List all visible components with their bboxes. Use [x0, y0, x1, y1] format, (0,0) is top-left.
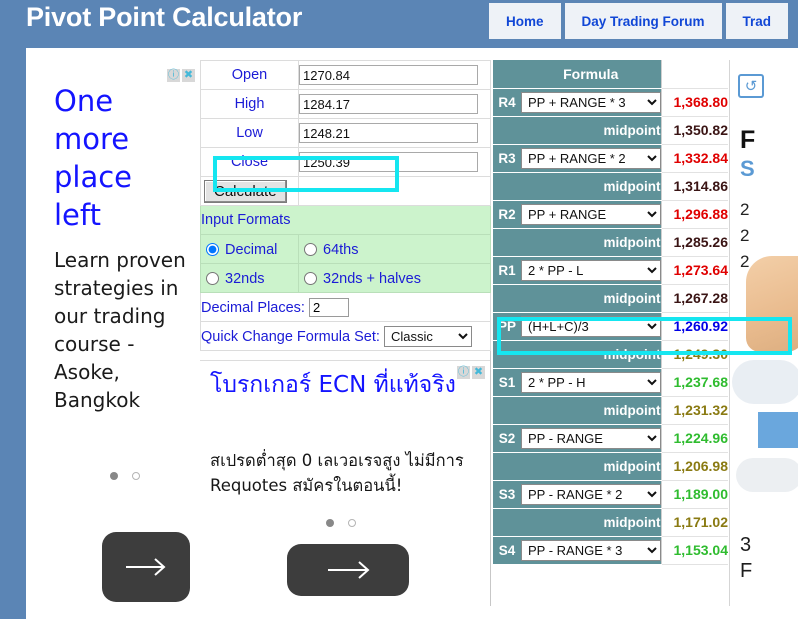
midpoint-label: midpoint — [521, 172, 661, 200]
table-row-midpoint: midpoint1,249.30 — [493, 340, 728, 368]
table-row-midpoint: midpoint1,231.32 — [493, 396, 728, 424]
cloud-illustration-secondary — [736, 458, 798, 492]
page-title: Pivot Point Calculator — [26, 2, 302, 33]
midpoint-value: 1,285.26 — [661, 228, 728, 256]
format-label-64ths: 64ths — [323, 242, 358, 258]
arrow-right-icon — [322, 560, 374, 580]
left-ad-cta-button[interactable] — [102, 532, 190, 602]
decimal-places-cell: Decimal Places: — [201, 293, 491, 322]
formula-cell-pp: (H+L+C)/3 — [521, 312, 661, 340]
radio-32nds[interactable] — [206, 272, 219, 285]
level-label-r1: R1 — [493, 256, 521, 284]
midpoint-label: midpoint — [521, 396, 661, 424]
page-root: Pivot Point Calculator Home Day Trading … — [0, 0, 798, 619]
level-label-s3: S3 — [493, 480, 521, 508]
midpoint-value: 1,171.02 — [661, 508, 728, 536]
field-high-cell — [299, 90, 491, 119]
table-row-low: Low — [201, 119, 491, 148]
left-advertisement[interactable]: ⓘ ✖ One more place left Learn proven str… — [26, 60, 198, 606]
calculator-column: Open High Low — [200, 60, 491, 606]
midpoint-value: 1,231.32 — [661, 396, 728, 424]
formula-cell-r4: PP + RANGE * 3 — [521, 88, 661, 116]
low-input[interactable] — [299, 123, 478, 143]
table-row-level-s4: S4PP - RANGE * 31,153.04 — [493, 536, 728, 564]
format-option-32nds[interactable]: 32nds — [201, 264, 299, 293]
close-input[interactable] — [299, 152, 478, 172]
field-close-cell — [299, 148, 491, 177]
midpoint-label-spacer — [493, 116, 521, 144]
field-low-cell — [299, 119, 491, 148]
midpoint-value: 1,249.30 — [661, 340, 728, 368]
input-formats-label: Input Formats — [201, 206, 491, 235]
format-row-2: 32nds 32nds + halves — [201, 264, 491, 293]
formula-select-s2[interactable]: PP - RANGE — [521, 428, 661, 449]
radio-64ths[interactable] — [304, 243, 317, 256]
formula-select-s1[interactable]: 2 * PP - H — [521, 372, 661, 393]
level-label-r2: R2 — [493, 200, 521, 228]
left-ad-headline: One more place left — [54, 82, 184, 234]
level-label-pp: PP — [493, 312, 521, 340]
formula-cell-s4: PP - RANGE * 3 — [521, 536, 661, 564]
midpoint-value: 1,206.98 — [661, 452, 728, 480]
left-ad-carousel-dots — [110, 472, 140, 480]
center-ad-body: สเปรดต่ำสุด 0 เลเวอเรจสูง ไม่มีการ Requo… — [210, 448, 482, 498]
level-label-s1: S1 — [493, 368, 521, 396]
table-row-level-r3: R3PP + RANGE * 21,332.84 — [493, 144, 728, 172]
table-row-midpoint: midpoint1,285.26 — [493, 228, 728, 256]
brand-logo-icon: ↺ — [738, 74, 764, 98]
results-table: Formula R4PP + RANGE * 31,368.80midpoint… — [493, 60, 728, 565]
midpoint-label: midpoint — [521, 508, 661, 536]
format-label-decimal: Decimal — [225, 242, 277, 258]
midpoint-value: 1,350.82 — [661, 116, 728, 144]
midpoint-label-spacer — [493, 172, 521, 200]
high-input[interactable] — [299, 94, 478, 114]
calculate-button[interactable]: Calculate — [204, 180, 287, 203]
midpoint-label: midpoint — [521, 284, 661, 312]
right-panel-bottom-2: F — [740, 560, 752, 583]
midpoint-label-spacer — [493, 228, 521, 256]
nav-tab-home[interactable]: Home — [489, 3, 561, 39]
arrow-right-icon — [122, 557, 170, 577]
quick-change-cell: Quick Change Formula Set: Classic — [201, 322, 491, 351]
hand-illustration — [746, 256, 798, 352]
center-ad-carousel-dots — [326, 519, 356, 527]
format-option-64ths[interactable]: 64ths — [299, 235, 491, 264]
left-ad-controls: ⓘ ✖ — [167, 69, 195, 82]
center-advertisement[interactable]: ⓘ ✖ โบรกเกอร์ ECN ที่แท้จริง สเปรดต่ำสุด… — [200, 360, 490, 606]
carousel-dot-active[interactable] — [110, 472, 118, 480]
table-row-level-r2: R2PP + RANGE1,296.88 — [493, 200, 728, 228]
table-row-midpoint: midpoint1,350.82 — [493, 116, 728, 144]
midpoint-value: 1,267.28 — [661, 284, 728, 312]
table-row-level-s1: S12 * PP - H1,237.68 — [493, 368, 728, 396]
level-value-pp: 1,260.92 — [661, 312, 728, 340]
table-row-high: High — [201, 90, 491, 119]
formula-select-pp[interactable]: (H+L+C)/3 — [521, 316, 661, 337]
open-input[interactable] — [299, 65, 478, 85]
level-value-s3: 1,189.00 — [661, 480, 728, 508]
results-panel: Formula R4PP + RANGE * 31,368.80midpoint… — [493, 60, 728, 565]
midpoint-label: midpoint — [521, 452, 661, 480]
formula-cell-r1: 2 * PP - L — [521, 256, 661, 284]
level-value-s1: 1,237.68 — [661, 368, 728, 396]
label-open: Open — [201, 61, 299, 90]
midpoint-value: 1,314.86 — [661, 172, 728, 200]
formula-cell-s1: 2 * PP - H — [521, 368, 661, 396]
level-value-r1: 1,273.64 — [661, 256, 728, 284]
level-label-s2: S2 — [493, 424, 521, 452]
formula-cell-r2: PP + RANGE — [521, 200, 661, 228]
left-ad-body: Learn proven strategies in our trading c… — [54, 246, 194, 414]
info-icon[interactable]: ⓘ — [167, 69, 180, 82]
nav-tab-day-trading-forum[interactable]: Day Trading Forum — [565, 3, 722, 39]
level-value-r2: 1,296.88 — [661, 200, 728, 228]
level-value-s4: 1,153.04 — [661, 536, 728, 564]
results-body: R4PP + RANGE * 31,368.80midpoint1,350.82… — [493, 88, 728, 564]
decimal-places-row: Decimal Places: — [201, 293, 491, 322]
right-panel-number-2: 2 — [740, 226, 749, 246]
carousel-dot-inactive[interactable] — [132, 472, 140, 480]
radio-decimal[interactable] — [206, 243, 219, 256]
decimal-places-label: Decimal Places: — [201, 300, 305, 316]
table-row-midpoint: midpoint1,267.28 — [493, 284, 728, 312]
right-panel-heading-secondary: S — [740, 156, 755, 182]
calculate-spacer — [299, 177, 491, 206]
formula-select-s4[interactable]: PP - RANGE * 3 — [521, 540, 661, 561]
formula-cell-r3: PP + RANGE * 2 — [521, 144, 661, 172]
results-header-spacer — [493, 60, 521, 88]
results-formula-header: Formula — [521, 60, 661, 88]
level-label-r3: R3 — [493, 144, 521, 172]
table-row-calculate: Calculate — [201, 177, 491, 206]
right-panel-number-1: 2 — [740, 200, 749, 220]
table-row-level-pp: PP(H+L+C)/31,260.92 — [493, 312, 728, 340]
close-icon[interactable]: ✖ — [182, 69, 195, 82]
input-table: Open High Low — [200, 60, 491, 351]
format-option-decimal[interactable]: Decimal — [201, 235, 299, 264]
table-row-midpoint: midpoint1,171.02 — [493, 508, 728, 536]
table-row-level-r1: R12 * PP - L1,273.64 — [493, 256, 728, 284]
formula-select-r3[interactable]: PP + RANGE * 2 — [521, 148, 661, 169]
format-option-32nds-halves[interactable]: 32nds + halves — [299, 264, 491, 293]
right-panel-heading-primary: F — [740, 126, 755, 155]
nav-tab-trading[interactable]: Trad — [726, 3, 789, 39]
field-open-cell — [299, 61, 491, 90]
label-high: High — [201, 90, 299, 119]
table-row-midpoint: midpoint1,314.86 — [493, 172, 728, 200]
table-row-level-s3: S3PP - RANGE * 21,189.00 — [493, 480, 728, 508]
quick-change-row: Quick Change Formula Set: Classic — [201, 322, 491, 351]
level-label-r4: R4 — [493, 88, 521, 116]
table-row-close: Close — [201, 148, 491, 177]
midpoint-label: midpoint — [521, 116, 661, 144]
table-row-midpoint: midpoint1,206.98 — [493, 452, 728, 480]
input-formats-header-row: Input Formats — [201, 206, 491, 235]
results-header-row: Formula — [493, 60, 728, 88]
midpoint-label-spacer — [493, 340, 521, 368]
carousel-dot-active[interactable] — [326, 519, 334, 527]
format-label-32nds-halves: 32nds + halves — [323, 271, 421, 287]
midpoint-label-spacer — [493, 284, 521, 312]
carousel-dot-inactive[interactable] — [348, 519, 356, 527]
level-value-r4: 1,368.80 — [661, 88, 728, 116]
quick-change-label: Quick Change Formula Set: — [201, 329, 380, 345]
calculate-cell: Calculate — [201, 177, 299, 206]
level-value-s2: 1,224.96 — [661, 424, 728, 452]
main-navigation: Home Day Trading Forum Trad — [489, 3, 788, 41]
right-side-panel: ↺ F S 2 2 2 3 F — [729, 60, 798, 606]
results-value-header — [661, 60, 728, 88]
formula-cell-s2: PP - RANGE — [521, 424, 661, 452]
format-label-32nds: 32nds — [225, 271, 265, 287]
formula-select-r4[interactable]: PP + RANGE * 3 — [521, 92, 661, 113]
midpoint-label: midpoint — [521, 340, 661, 368]
formula-select-r1[interactable]: 2 * PP - L — [521, 260, 661, 281]
center-ad-cta-button[interactable] — [287, 544, 409, 596]
midpoint-label: midpoint — [521, 228, 661, 256]
cloud-illustration — [732, 360, 798, 404]
formula-select-s3[interactable]: PP - RANGE * 2 — [521, 484, 661, 505]
format-row-1: Decimal 64ths — [201, 235, 491, 264]
site-header: Pivot Point Calculator Home Day Trading … — [0, 0, 798, 48]
radio-32nds-halves[interactable] — [304, 272, 317, 285]
table-row-level-s2: S2PP - RANGE1,224.96 — [493, 424, 728, 452]
label-low: Low — [201, 119, 299, 148]
blue-band-graphic — [758, 412, 798, 448]
level-value-r3: 1,332.84 — [661, 144, 728, 172]
midpoint-label-spacer — [493, 396, 521, 424]
center-ad-headline: โบรกเกอร์ ECN ที่แท้จริง — [210, 369, 480, 401]
midpoint-label-spacer — [493, 452, 521, 480]
midpoint-label-spacer — [493, 508, 521, 536]
formula-select-r2[interactable]: PP + RANGE — [521, 204, 661, 225]
table-row-open: Open — [201, 61, 491, 90]
quick-change-select[interactable]: Classic — [384, 326, 472, 347]
right-panel-bottom-1: 3 — [740, 534, 751, 557]
formula-cell-s3: PP - RANGE * 2 — [521, 480, 661, 508]
decimal-places-input[interactable] — [309, 298, 349, 317]
level-label-s4: S4 — [493, 536, 521, 564]
table-row-level-r4: R4PP + RANGE * 31,368.80 — [493, 88, 728, 116]
page-content: ⓘ ✖ One more place left Learn proven str… — [26, 48, 798, 619]
label-close: Close — [201, 148, 299, 177]
